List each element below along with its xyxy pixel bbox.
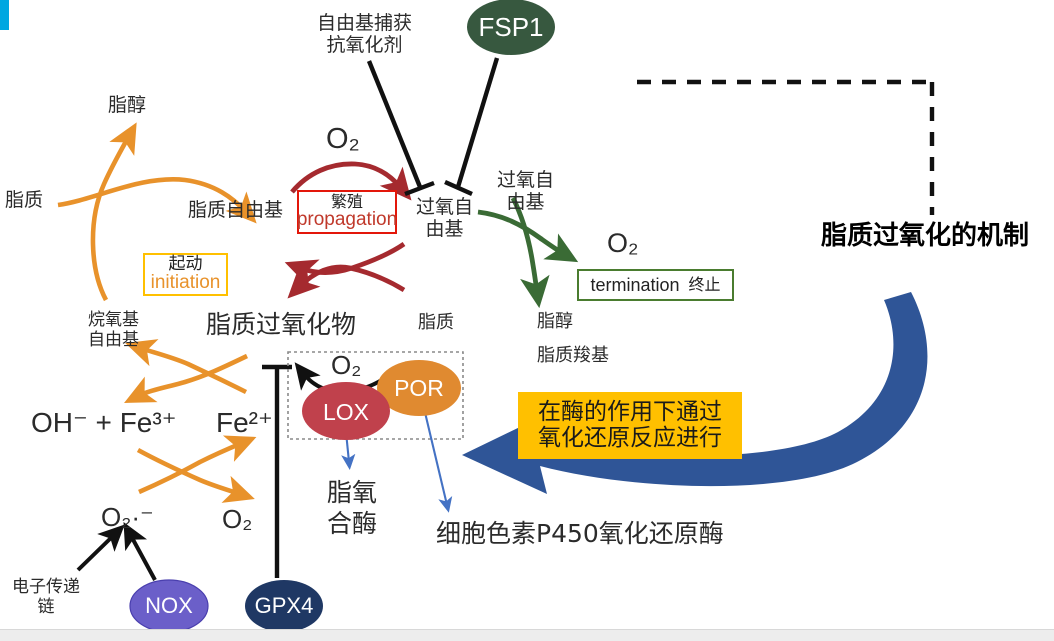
alkoxy-radical-label: 烷氧基 自由基	[88, 310, 139, 350]
bottom-status-bar	[0, 629, 1054, 641]
propagation-box-cn: 繁殖	[331, 194, 363, 211]
hydroxide-ferric-label: OH⁻ + Fe³⁺	[31, 406, 176, 439]
lipid-radical-label: 脂质自由基	[188, 199, 283, 221]
superoxide-label: O₂·⁻	[101, 502, 154, 533]
propagation-box[interactable]: 繁殖 propagation	[297, 190, 397, 234]
o2-termination-label: O₂	[607, 228, 638, 260]
ferrous-label: Fe²⁺	[216, 406, 273, 439]
lipid-peroxide-label: 脂质过氧化物	[206, 310, 356, 340]
initiation-box[interactable]: 起动 initiation	[143, 253, 228, 296]
mechanism-highlight-note: 在酶的作用下通过 氧化还原反应进行	[518, 392, 742, 459]
propagation-box-en: propagation	[297, 210, 397, 230]
initiation-box-cn: 起动	[169, 256, 203, 274]
termination-box-cn: 终止	[689, 277, 721, 294]
termination-box[interactable]: termination 终止	[577, 269, 734, 301]
lipoxygenase-label: 脂氧 合酶	[327, 477, 377, 540]
electron-transport-chain-label: 电子传递 链	[12, 577, 80, 617]
lipid-alcohol-right-label: 脂醇	[537, 311, 573, 332]
highlight-line-2: 氧化还原反应进行	[538, 426, 722, 452]
peroxyl-radical-right-label: 过氧自 由基	[497, 169, 554, 214]
lipid-carboxyl-label: 脂质羧基	[537, 345, 609, 366]
peroxyl-radical-left-label: 过氧自 由基	[416, 196, 473, 241]
radical-trapping-antioxidant-label: 自由基捕获 抗氧化剂	[317, 12, 412, 57]
cytochrome-p450-reductase-label: 细胞色素P450氧化还原酶	[436, 519, 724, 549]
page-title: 脂质过氧化的机制	[821, 221, 1029, 252]
fsp1-node[interactable]	[467, 0, 555, 55]
diagram-canvas: FSP1 NOX GPX4 POR LOX 自由基捕获 抗氧化剂 脂醇 脂质 脂…	[0, 0, 1054, 640]
lox-node[interactable]	[302, 382, 390, 440]
lipid-label: 脂质	[5, 189, 43, 211]
lipid-mid-label: 脂质	[418, 312, 454, 333]
o2-propagation-label: O₂	[326, 122, 360, 156]
gpx4-node[interactable]	[245, 580, 323, 632]
highlight-line-1: 在酶的作用下通过	[538, 400, 722, 426]
initiation-box-en: initiation	[151, 273, 221, 293]
dioxygen-label: O₂	[222, 504, 252, 535]
lipid-alcohol-top-label: 脂醇	[108, 94, 146, 116]
termination-box-en: termination	[590, 276, 679, 295]
o2-lox-label: O₂	[331, 350, 361, 381]
nox-node[interactable]	[130, 580, 208, 632]
